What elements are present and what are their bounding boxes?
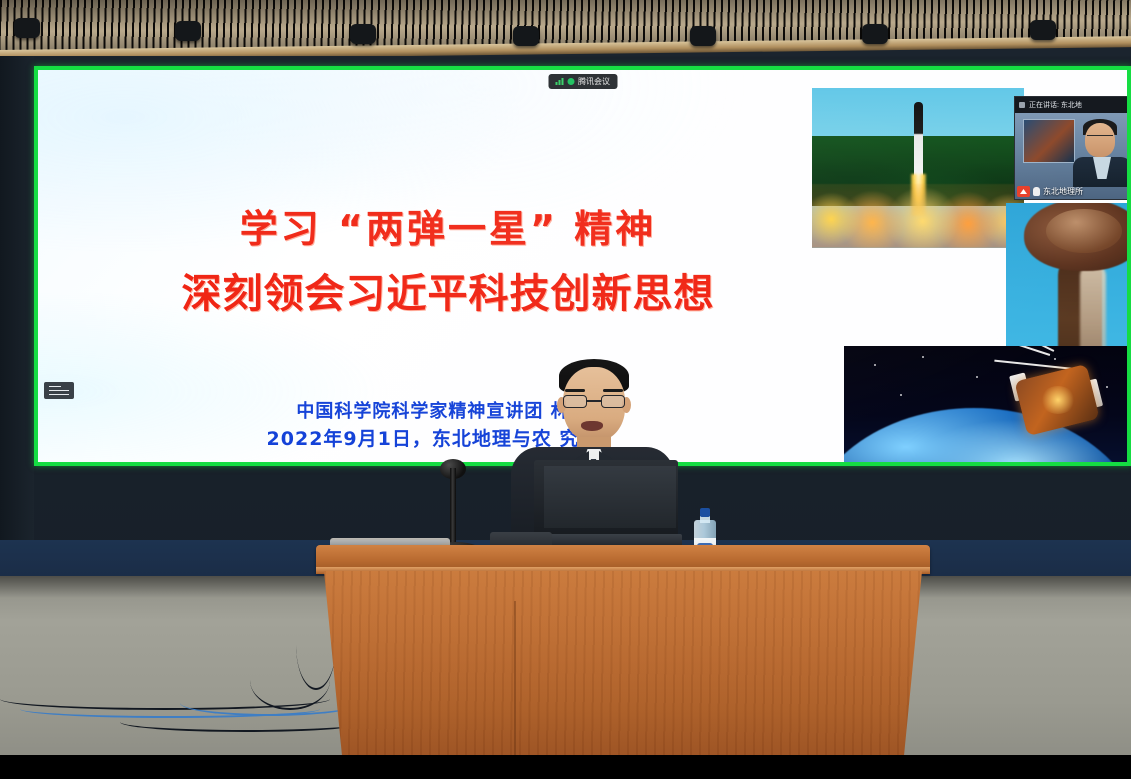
presenter-brow-right	[603, 389, 623, 392]
presenter-glasses	[563, 395, 625, 409]
lecture-hall-room: 腾讯会议 学习 “两弹一星” 精神 深刻领会习近平科技创新思想 中国科学院科学家…	[0, 0, 1131, 755]
open-laptop	[530, 460, 682, 552]
desk-wood-grain	[324, 571, 922, 755]
ceiling-spotlight	[1030, 20, 1056, 40]
ceiling-spotlight	[175, 21, 201, 41]
presenter-mouth	[581, 421, 603, 431]
glasses-bridge	[587, 400, 601, 402]
gooseneck-microphone-stand	[450, 468, 456, 550]
ceiling-spotlight	[14, 18, 40, 38]
desk-front-panel	[324, 571, 922, 755]
ceiling-spotlight	[350, 24, 376, 44]
ceiling-spotlight	[513, 26, 539, 46]
desk-panel-seam	[514, 601, 516, 779]
bottle-cap	[700, 508, 710, 517]
laptop-lid	[534, 460, 678, 536]
glasses-lens-right	[601, 395, 625, 408]
presenter-brow-left	[565, 389, 585, 392]
ceiling-spotlight	[690, 26, 716, 46]
wooden-podium-desk	[316, 545, 930, 755]
glasses-lens-left	[563, 395, 587, 408]
laptop-screen	[544, 466, 676, 528]
ceiling-spotlight	[862, 24, 888, 44]
wall-left-return	[0, 56, 34, 576]
bottle-neck	[700, 516, 710, 523]
